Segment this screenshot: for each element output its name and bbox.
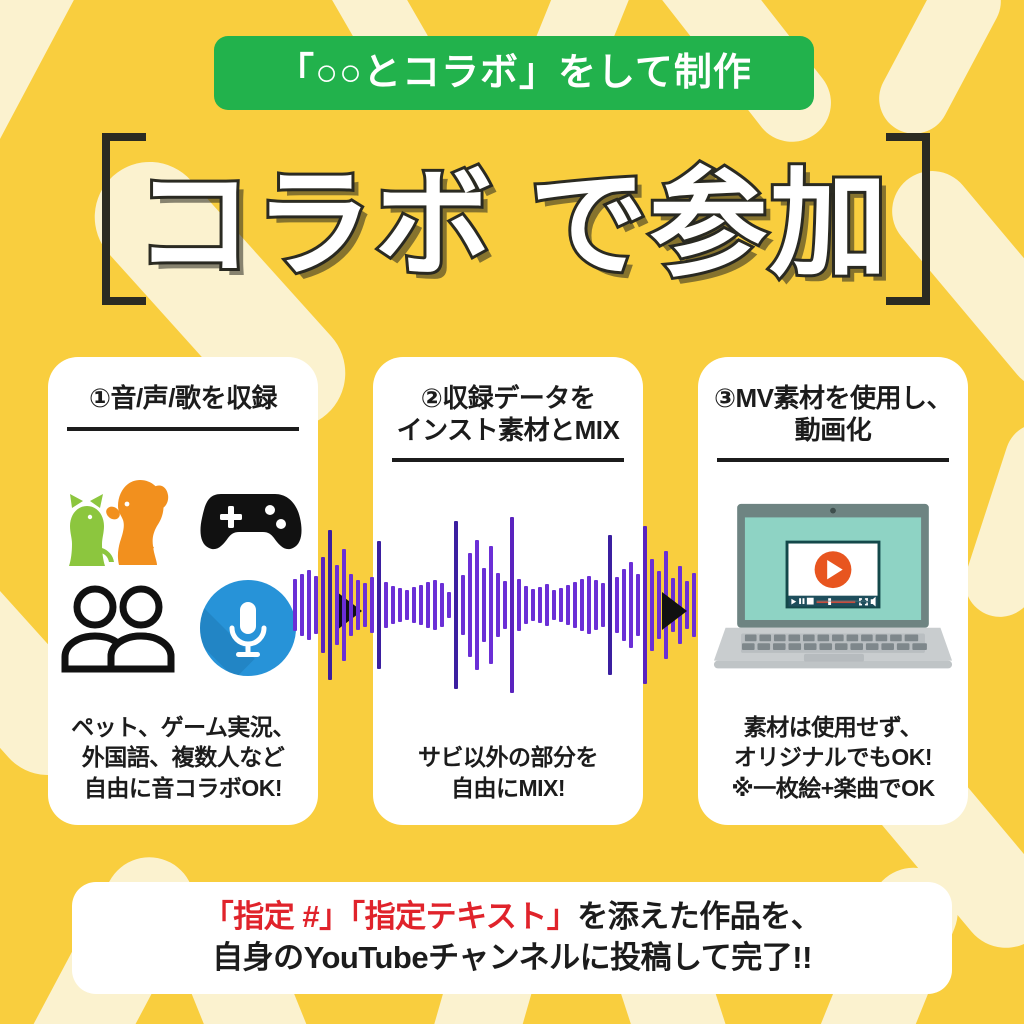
step-card-2-caption: サビ以外の部分を 自由にMIX! (418, 742, 598, 807)
waveform-bar (370, 577, 374, 633)
waveform-bar (692, 573, 696, 637)
audio-waveform-icon (293, 505, 724, 705)
waveform-bar (300, 574, 304, 636)
step-arrow-2-icon (662, 592, 687, 630)
waveform-bar (440, 583, 444, 627)
step-card-2-divider (392, 458, 624, 462)
waveform-bar (580, 579, 584, 631)
submission-banner-line-1: 「指定 #」「指定テキスト」を添えた作品を、 (203, 897, 821, 938)
waveform-bar (517, 579, 521, 631)
waveform-bar (601, 583, 605, 627)
hashtag-tag-text: 「指定 #」 (203, 899, 350, 934)
waveform-bar (650, 559, 654, 651)
waveform-bar (545, 584, 549, 626)
waveform-bar (342, 549, 346, 661)
recording-source-icon-grid (55, 468, 311, 680)
step-card-1-title: ①音/声/歌を収録 (89, 383, 277, 415)
waveform-bar (594, 580, 598, 630)
submission-banner-line-1-rest: を添えた作品を、 (577, 899, 821, 934)
waveform-bar (454, 521, 458, 689)
step-card-2: ②収録データを インスト素材とMIX サビ以外の部分を 自由にMIX! (373, 357, 643, 825)
waveform-bar (489, 546, 493, 664)
submission-banner-line-2: 自身のYouTubeチャンネルに投稿して完了!! (212, 938, 812, 979)
cat-dog-icon (56, 470, 180, 570)
waveform-bar (447, 592, 451, 618)
step-card-2-title: ②収録データを インスト素材とMIX (397, 383, 620, 446)
step-card-3-caption: 素材は使用せず、 オリジナルでもOK! ※一枚絵+楽曲でOK (731, 712, 934, 807)
waveform-bar (475, 540, 479, 670)
waveform-bar (566, 585, 570, 625)
step-card-3: ③MV素材を使用し、 動画化 (698, 357, 968, 825)
waveform-bar (573, 582, 577, 628)
waveform-bar (636, 574, 640, 636)
waveform-bar (391, 586, 395, 624)
laptop-video-icon (712, 495, 954, 685)
waveform-bar (538, 587, 542, 623)
waveform-bar (608, 535, 612, 675)
waveform-bar (405, 590, 409, 620)
waveform-bar (587, 576, 591, 634)
waveform-bar (496, 573, 500, 637)
waveform-bar (482, 568, 486, 642)
step-card-3-artwork (712, 468, 954, 711)
step-card-1-divider (67, 427, 299, 431)
waveform-bar (468, 553, 472, 657)
specified-text-tag: 「指定テキスト」 (350, 899, 578, 934)
submission-banner: 「指定 #」「指定テキスト」を添えた作品を、 自身のYouTubeチャンネルに投… (72, 882, 952, 994)
waveform-bar (629, 562, 633, 648)
waveform-bar (622, 569, 626, 641)
waveform-bar (552, 590, 556, 620)
waveform-bar (398, 588, 402, 622)
collab-banner-label: 「○○とコラボ」をして制作 (276, 54, 752, 92)
step-card-3-divider (717, 458, 949, 462)
step-card-2-artwork (387, 468, 629, 742)
waveform-bar (328, 530, 332, 680)
microphone-icon (200, 580, 296, 676)
waveform-bar (615, 577, 619, 633)
waveform-bar (349, 574, 353, 636)
waveform-bar (335, 565, 339, 645)
waveform-bar (314, 576, 318, 634)
gamepad-icon (193, 480, 303, 560)
waveform-bar (524, 586, 528, 624)
background-capsule (867, 0, 1013, 146)
collab-banner: 「○○とコラボ」をして制作 (214, 36, 814, 110)
step-card-3-title: ③MV素材を使用し、 動画化 (714, 383, 952, 446)
waveform-bar (321, 557, 325, 653)
waveform-bar (503, 581, 507, 629)
waveform-bar (377, 541, 381, 669)
two-people-icon (59, 583, 177, 673)
waveform-bar (419, 585, 423, 625)
waveform-bar (510, 517, 514, 693)
page-title: コラボ で参加 (0, 150, 1024, 300)
step-card-1-caption: ペット、ゲーム実況、 外国語、複数人など 自由に音コラボOK! (71, 712, 295, 807)
step-card-1-artwork (62, 437, 304, 712)
waveform-bar (531, 589, 535, 621)
background-capsule (0, 0, 90, 173)
waveform-bar (293, 579, 297, 631)
waveform-bar (307, 570, 311, 640)
waveform-bar (433, 580, 437, 630)
waveform-bar (461, 575, 465, 635)
waveform-bar (657, 571, 661, 639)
waveform-bar (426, 582, 430, 628)
waveform-bar (643, 526, 647, 684)
waveform-bar (412, 587, 416, 623)
waveform-bar (356, 580, 360, 630)
waveform-bar (363, 583, 367, 627)
waveform-bar (559, 588, 563, 622)
waveform-bar (384, 582, 388, 628)
step-card-1: ①音/声/歌を収録 (48, 357, 318, 825)
